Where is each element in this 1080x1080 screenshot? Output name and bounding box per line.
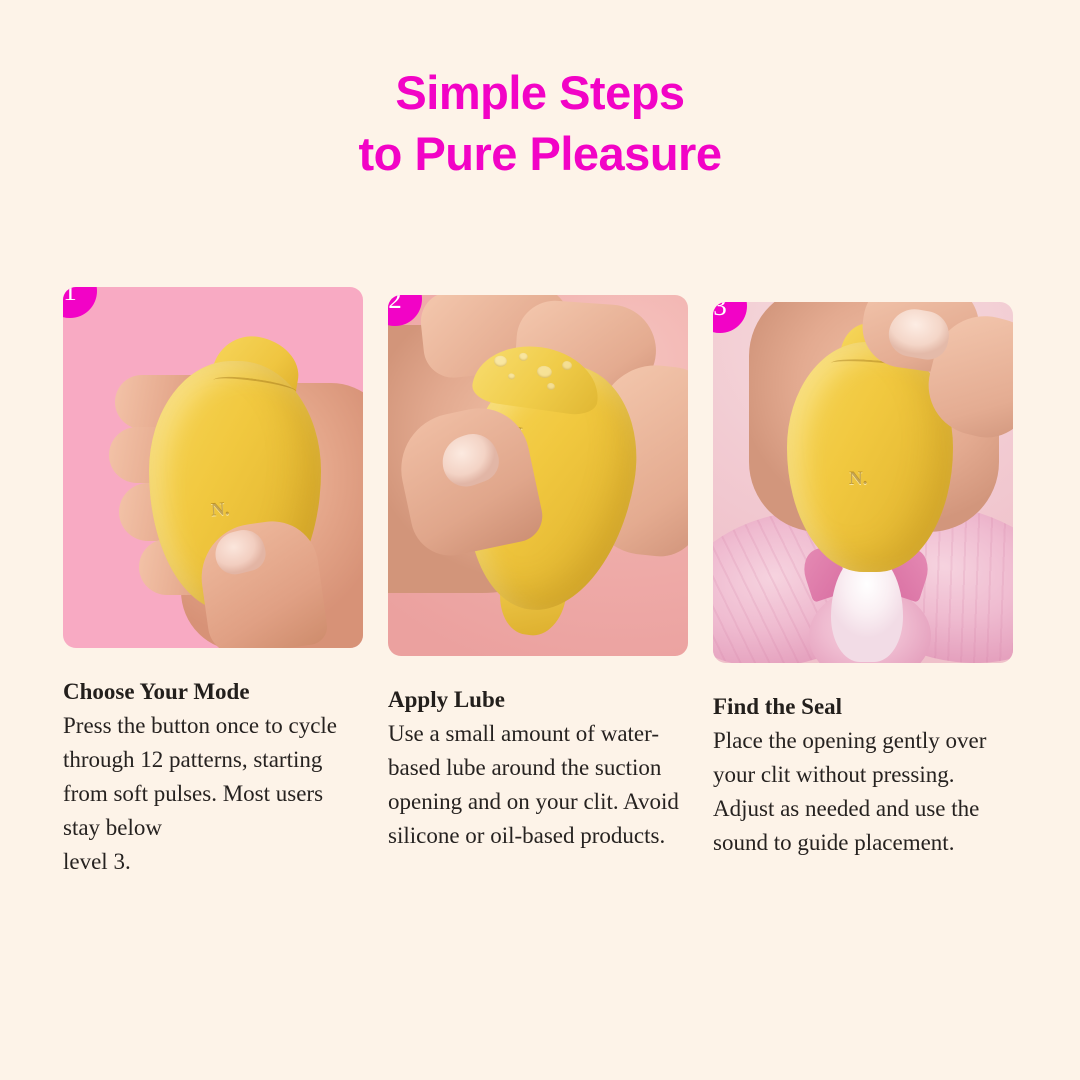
step-2-copy: Apply Lube Use a small amount of water-b… <box>388 685 688 853</box>
poster-canvas: Simple Steps to Pure Pleasure N. <box>0 0 1080 1080</box>
title-line-2: to Pure Pleasure <box>0 123 1080 184</box>
step-card-2: N 2 Apply Lube Use a small amount of wat… <box>388 295 688 853</box>
brand-logo-mark: N. <box>210 498 230 521</box>
lube-droplet <box>508 373 516 380</box>
step-3-title: Find the Seal <box>713 692 1013 722</box>
steps-row: N. 1 Choose Your Mode Press the button o… <box>63 287 1017 879</box>
title-line-1: Simple Steps <box>0 62 1080 123</box>
lube-droplet <box>518 352 528 361</box>
brand-logo-mark: N. <box>849 468 867 490</box>
step-1-copy: Choose Your Mode Press the button once t… <box>63 677 363 879</box>
step-1-title: Choose Your Mode <box>63 677 363 707</box>
lube-droplet <box>561 360 572 370</box>
step-1-body: Press the button once to cycle through 1… <box>63 709 363 879</box>
photo-3-scene: N. <box>713 302 1013 663</box>
lube-droplet <box>536 365 553 379</box>
step-2-photo: N 2 <box>388 295 688 656</box>
step-3-copy: Find the Seal Place the opening gently o… <box>713 692 1013 860</box>
photo-1-scene: N. <box>63 287 363 648</box>
step-3-photo: N. 3 <box>713 302 1013 663</box>
step-2-body: Use a small amount of water-based lube a… <box>388 717 688 853</box>
step-card-3: N. 3 Find the Seal Place the opening gen… <box>713 302 1013 860</box>
lube-droplet <box>547 383 556 391</box>
device-body <box>787 342 953 572</box>
step-2-title: Apply Lube <box>388 685 688 715</box>
page-title: Simple Steps to Pure Pleasure <box>0 62 1080 184</box>
lube-droplet <box>493 355 507 368</box>
photo-2-scene: N <box>388 295 688 656</box>
step-1-photo: N. 1 <box>63 287 363 648</box>
step-3-body: Place the opening gently over your clit … <box>713 724 1013 860</box>
step-card-1: N. 1 Choose Your Mode Press the button o… <box>63 287 363 879</box>
